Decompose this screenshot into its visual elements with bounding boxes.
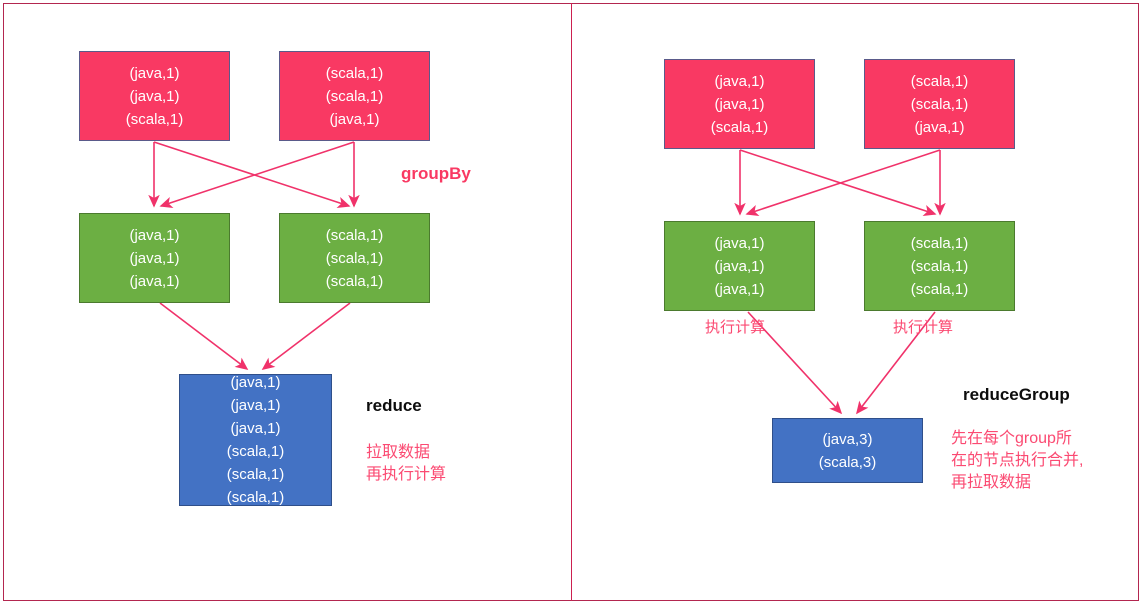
- box-row: (scala,1): [326, 247, 384, 270]
- box-row: (scala,1): [711, 116, 769, 139]
- box-row: (java,1): [230, 371, 280, 394]
- box-row: (java,1): [129, 62, 179, 85]
- grouped-box-below-label: 执行计算: [705, 317, 765, 338]
- box-row: (java,3): [822, 428, 872, 451]
- source-box: (java,1) (java,1) (scala,1): [79, 51, 230, 141]
- grouped-box: (java,1) (java,1) (java,1): [664, 221, 815, 311]
- box-row: (scala,1): [911, 232, 969, 255]
- box-row: (scala,1): [227, 486, 285, 509]
- diagram-canvas: (java,1) (java,1) (scala,1) (scala,1) (s…: [0, 0, 1143, 606]
- grouped-box: (java,1) (java,1) (java,1): [79, 213, 230, 303]
- box-row: (java,1): [714, 93, 764, 116]
- box-row: (scala,1): [126, 108, 184, 131]
- operation-label-groupby: groupBy: [401, 164, 471, 184]
- box-row: (java,1): [129, 247, 179, 270]
- source-box: (scala,1) (scala,1) (java,1): [864, 59, 1015, 149]
- box-row: (java,1): [914, 116, 964, 139]
- operation-label-reducegroup: reduceGroup: [963, 385, 1070, 405]
- note-line: 再执行计算: [366, 464, 446, 486]
- box-row: (java,1): [714, 278, 764, 301]
- box-row: (scala,3): [819, 451, 877, 474]
- grouped-box: (scala,1) (scala,1) (scala,1): [864, 221, 1015, 311]
- box-row: (scala,1): [911, 93, 969, 116]
- box-row: (java,1): [129, 270, 179, 293]
- box-row: (java,1): [129, 85, 179, 108]
- box-row: (scala,1): [227, 440, 285, 463]
- source-box: (scala,1) (scala,1) (java,1): [279, 51, 430, 141]
- box-row: (scala,1): [326, 224, 384, 247]
- box-row: (java,1): [714, 232, 764, 255]
- box-row: (java,1): [714, 70, 764, 93]
- box-row: (java,1): [230, 394, 280, 417]
- note-line: 先在每个group所: [951, 428, 1083, 450]
- annotation-note-left: 拉取数据 再执行计算: [366, 442, 446, 486]
- box-row: (scala,1): [326, 62, 384, 85]
- box-row: (java,1): [329, 108, 379, 131]
- box-row: (scala,1): [326, 270, 384, 293]
- grouped-box-below-label: 执行计算: [893, 317, 953, 338]
- note-line: 拉取数据: [366, 442, 446, 464]
- box-row: (java,1): [230, 417, 280, 440]
- box-row: (java,1): [129, 224, 179, 247]
- grouped-box: (scala,1) (scala,1) (scala,1): [279, 213, 430, 303]
- operation-label-reduce: reduce: [366, 396, 422, 416]
- box-row: (scala,1): [227, 463, 285, 486]
- box-row: (java,1): [714, 255, 764, 278]
- result-box: (java,3) (scala,3): [772, 418, 923, 483]
- box-row: (scala,1): [911, 278, 969, 301]
- note-line: 再拉取数据: [951, 472, 1083, 494]
- result-box: (java,1) (java,1) (java,1) (scala,1) (sc…: [179, 374, 332, 506]
- note-line: 在的节点执行合并,: [951, 450, 1083, 472]
- box-row: (scala,1): [326, 85, 384, 108]
- annotation-note-right: 先在每个group所 在的节点执行合并, 再拉取数据: [951, 428, 1083, 494]
- box-row: (scala,1): [911, 70, 969, 93]
- source-box: (java,1) (java,1) (scala,1): [664, 59, 815, 149]
- box-row: (scala,1): [911, 255, 969, 278]
